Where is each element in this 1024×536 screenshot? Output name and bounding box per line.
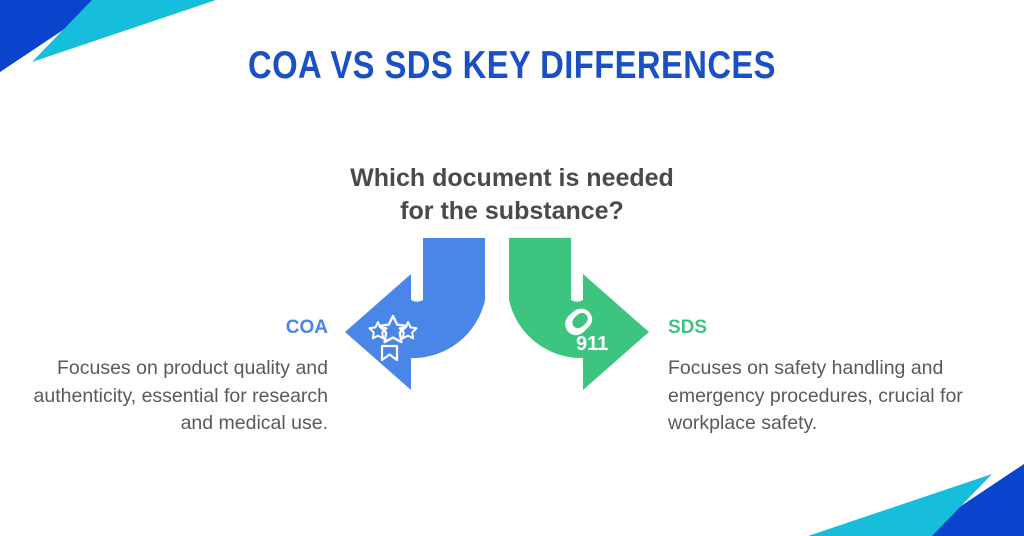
question-line-1: Which document is needed [0,162,1024,195]
curved-arrow-right: 911 [509,238,649,390]
navy-triangle-icon [916,464,1024,536]
page-title: COA VS SDS KEY DIFFERENCES [82,44,942,88]
question-heading: Which document is needed for the substan… [0,162,1024,229]
blue-arrow-shape [345,238,485,390]
sds-label: SDS [668,318,968,337]
coa-description: Focuses on product quality and authentic… [28,355,328,438]
coa-block: COA Focuses on product quality and authe… [28,318,328,438]
bottom-right-decoration [794,464,1024,536]
arrows-group: 911 [337,238,657,390]
coa-label: COA [28,318,328,337]
emergency-number-text: 911 [576,333,608,355]
green-arrow-shape [509,238,649,390]
infographic-canvas: COA VS SDS KEY DIFFERENCES Which documen… [0,0,1024,536]
cyan-triangle-icon [808,474,992,536]
question-line-2: for the substance? [0,195,1024,228]
curved-arrow-left [345,238,485,390]
sds-description: Focuses on safety handling and emergency… [668,355,968,438]
sds-block: SDS Focuses on safety handling and emerg… [668,318,968,438]
